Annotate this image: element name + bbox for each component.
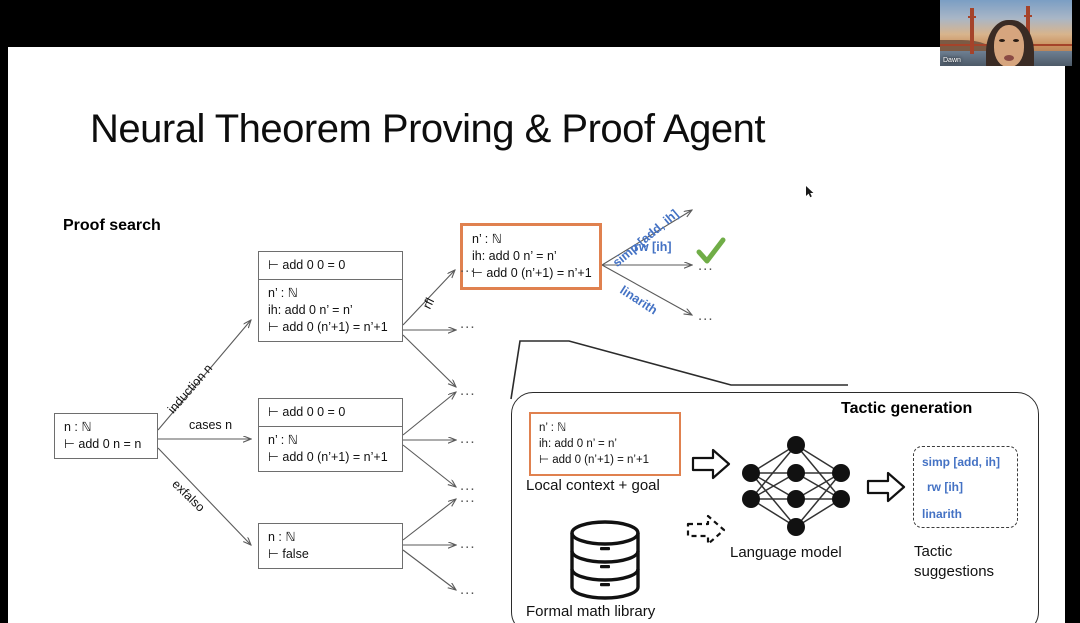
arrow-model-to-suggestions <box>866 470 906 504</box>
selected-line-1: n’ : ℕ <box>472 231 590 248</box>
ellipsis-exfalso-2: ... <box>460 535 476 552</box>
bridge-tower-left <box>970 8 974 54</box>
panel-context-box: n’ : ℕ ih: add 0 n’ = n’ ⊢ add 0 (n’+1) … <box>529 412 681 476</box>
ellipsis-exfalso-1: ... <box>460 489 476 506</box>
neural-network-icon <box>737 435 855 537</box>
participant-face <box>994 25 1024 66</box>
tactic-suggestion-rw[interactable]: rw [ih] <box>927 480 963 494</box>
tactic-edge-label-rw: rw [ih] <box>634 240 672 254</box>
induction-top-line-1: ⊢ add 0 0 = 0 <box>268 257 393 274</box>
edge-label-cases: cases n <box>189 418 232 432</box>
eye-right <box>1013 39 1019 42</box>
ellipsis-tactic-linarith: ... <box>698 307 714 324</box>
slide-title: Neural Theorem Proving & Proof Agent <box>90 107 765 152</box>
ellipsis-cases-1: ... <box>460 382 476 399</box>
tactic-suggestion-linarith[interactable]: linarith <box>922 507 962 521</box>
tactic-generation-title: Tactic generation <box>841 400 972 418</box>
exfalso-line-2: ⊢ false <box>268 546 393 563</box>
cases-cell-top: ⊢ add 0 0 = 0 <box>259 399 402 426</box>
participant-name-label: Dawn <box>943 57 961 64</box>
presentation-slide: Neural Theorem Proving & Proof Agent Pro… <box>8 47 1065 623</box>
video-participant-tile[interactable]: Dawn <box>940 0 1072 66</box>
panel-ctx-line-1: n’ : ℕ <box>539 420 671 436</box>
panel-context-caption: Local context + goal <box>526 477 660 494</box>
selected-line-3: ⊢ add 0 (n’+1) = n’+1 <box>472 265 590 282</box>
database-icon <box>564 520 646 600</box>
cases-cell-bottom: n’ : ℕ ⊢ add 0 (n’+1) = n’+1 <box>259 426 402 471</box>
panel-ctx-line-3: ⊢ add 0 (n’+1) = n’+1 <box>539 452 671 468</box>
selected-line-2: ih: add 0 n’ = n’ <box>472 248 590 265</box>
tactic-edge-label-simp: simp [add, ih] <box>610 207 681 270</box>
edge-label-rfl: rfl <box>420 296 437 312</box>
mouse-cursor <box>806 186 814 198</box>
root-line-2: ⊢ add 0 n = n <box>64 436 148 453</box>
panel-library-caption: Formal math library <box>526 603 655 620</box>
screen-capture: Neural Theorem Proving & Proof Agent Pro… <box>0 0 1080 623</box>
arrow-library-to-model <box>686 513 726 547</box>
exfalso-line-1: n : ℕ <box>268 529 393 546</box>
tactic-suggestions-caption: Tactic suggestions <box>914 542 994 582</box>
panel-ctx-line-2: ih: add 0 n’ = n’ <box>539 436 671 452</box>
ellipsis-cases-2: ... <box>460 430 476 447</box>
induction-bot-line-1: n’ : ℕ <box>268 285 393 302</box>
tree-root-node[interactable]: n : ℕ ⊢ add 0 n = n <box>54 413 158 459</box>
root-line-1: n : ℕ <box>64 419 148 436</box>
induction-goal-node[interactable]: ⊢ add 0 0 = 0 n’ : ℕ ih: add 0 n’ = n’ ⊢… <box>258 251 403 342</box>
ellipsis-tactic-rw: ... <box>698 257 714 274</box>
ellipsis-exfalso-3: ... <box>460 581 476 598</box>
callout-tail <box>511 341 848 399</box>
induction-cell-top: ⊢ add 0 0 = 0 <box>259 252 402 279</box>
arrow-context-to-model <box>691 447 731 481</box>
exfalso-goal-node[interactable]: n : ℕ ⊢ false <box>258 523 403 569</box>
induction-bot-line-2: ih: add 0 n’ = n’ <box>268 302 393 319</box>
tsug-caption-line-2: suggestions <box>914 562 994 582</box>
induction-cell-bottom: n’ : ℕ ih: add 0 n’ = n’ ⊢ add 0 (n’+1) … <box>259 279 402 341</box>
panel-model-caption: Language model <box>730 544 842 561</box>
edge-label-induction: induction n <box>165 361 215 416</box>
bridge-crossbar-right <box>1024 15 1032 17</box>
selected-goal-node[interactable]: n’ : ℕ ih: add 0 n’ = n’ ⊢ add 0 (n’+1) … <box>460 223 602 290</box>
proof-search-heading: Proof search <box>63 217 161 235</box>
cases-top-line-1: ⊢ add 0 0 = 0 <box>268 404 393 421</box>
eye-left <box>999 39 1005 42</box>
ellipsis-induction-2: ... <box>460 259 476 276</box>
cases-bot-line-1: n’ : ℕ <box>268 432 393 449</box>
tactic-suggestion-simp[interactable]: simp [add, ih] <box>922 455 1000 469</box>
tsug-caption-line-1: Tactic <box>914 542 994 562</box>
bridge-crossbar-left <box>968 16 976 18</box>
cases-bot-line-2: ⊢ add 0 (n’+1) = n’+1 <box>268 449 393 466</box>
ellipsis-induction-3: ... <box>460 315 476 332</box>
induction-bot-line-3: ⊢ add 0 (n’+1) = n’+1 <box>268 319 393 336</box>
mouth <box>1004 55 1014 61</box>
tactic-edge-label-linarith: linarith <box>617 283 660 317</box>
edge-label-exfalso: exfalso <box>169 477 207 515</box>
cases-goal-node[interactable]: ⊢ add 0 0 = 0 n’ : ℕ ⊢ add 0 (n’+1) = n’… <box>258 398 403 472</box>
